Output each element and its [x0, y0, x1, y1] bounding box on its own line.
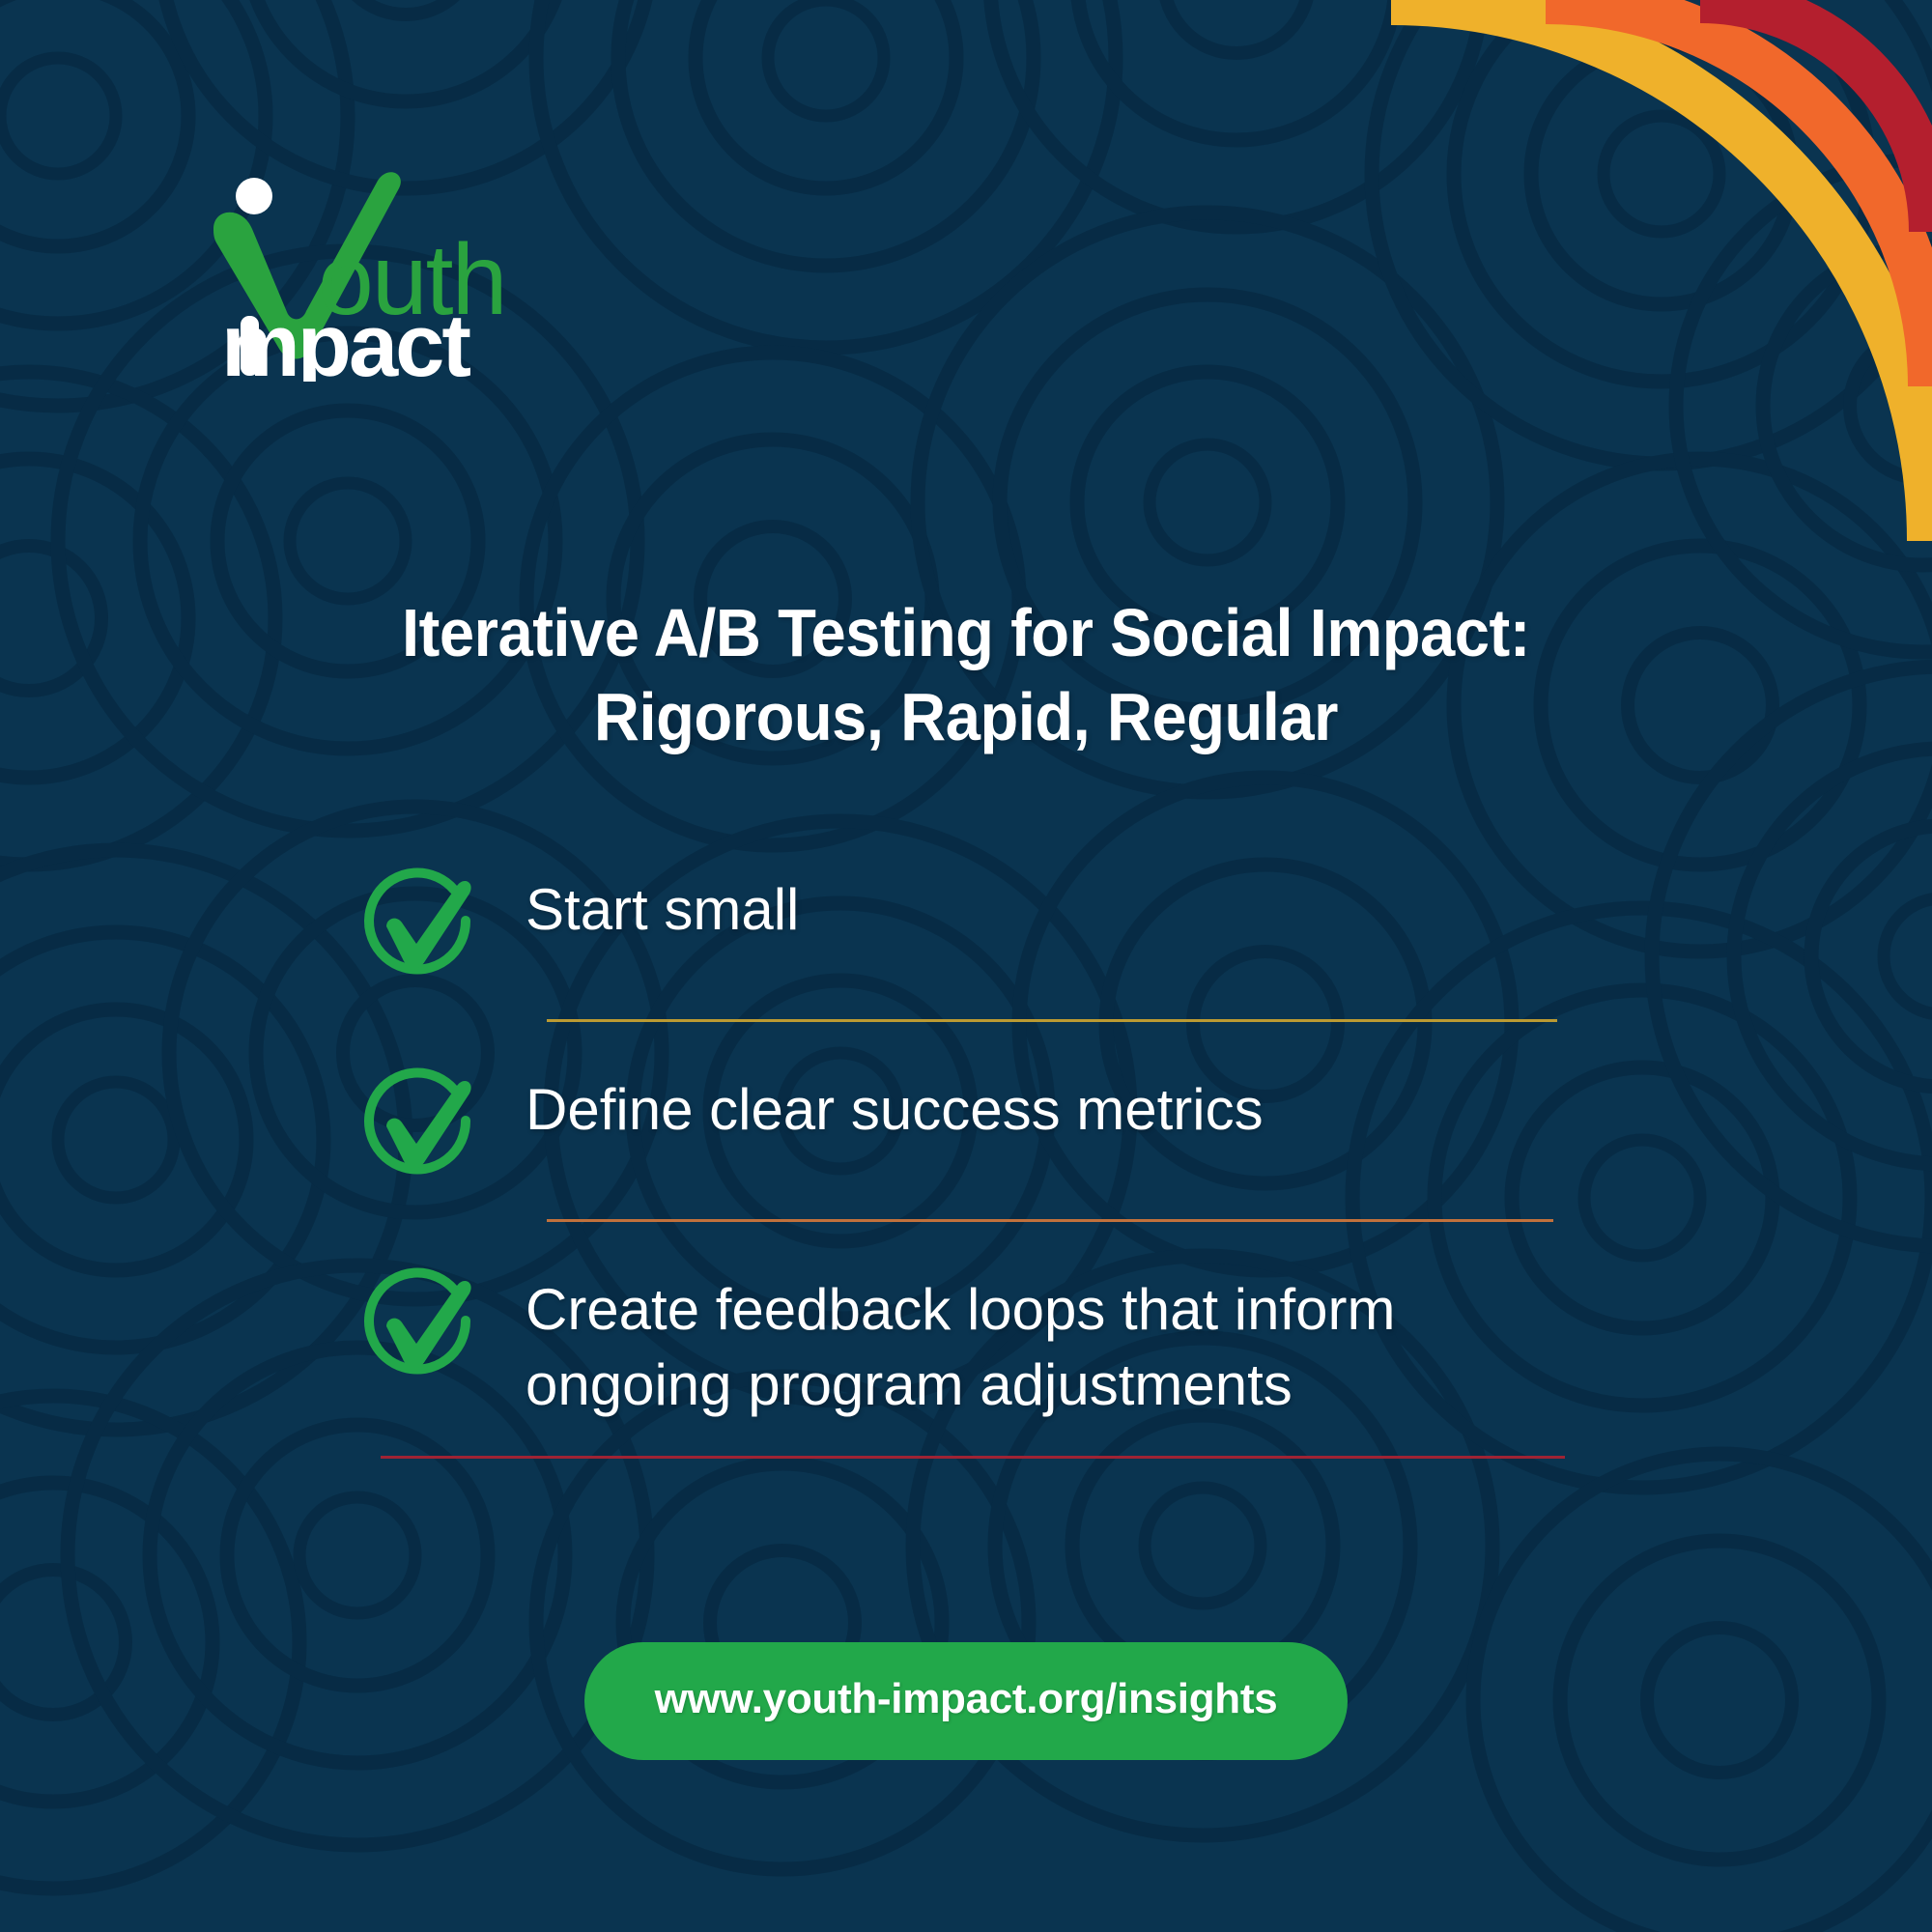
divider-copper [547, 1219, 1553, 1222]
circle-check-icon [357, 1264, 479, 1386]
youth-impact-logo: outh mpact [198, 169, 546, 382]
circle-check-icon [357, 1065, 479, 1186]
arc-red [1700, 0, 1932, 232]
headline-line-1: Iterative A/B Testing for Social Impact: [68, 591, 1864, 675]
headline-line-2: Rigorous, Rapid, Regular [68, 675, 1864, 759]
list-item: Start small [357, 855, 1613, 986]
list-item-label: Define clear success metrics [526, 1055, 1613, 1148]
logo-head-dot [236, 178, 272, 214]
logo-i-stem [241, 316, 259, 376]
cta-container: www.youth-impact.org/insights [0, 1642, 1932, 1760]
divider-gold [547, 1019, 1557, 1022]
social-post-card: outh mpact Iterative A/B Testing for Soc… [0, 0, 1932, 1932]
circle-check-icon [357, 865, 479, 986]
website-link-button[interactable]: www.youth-impact.org/insights [584, 1642, 1348, 1760]
page-title: Iterative A/B Testing for Social Impact:… [68, 591, 1864, 759]
arc-orange [1546, 0, 1932, 386]
list-item-label: Create feedback loops that inform ongoin… [526, 1255, 1613, 1423]
checklist: Start small Define clear success metrics… [357, 855, 1613, 1492]
list-item-label: Start small [526, 855, 1613, 948]
list-item: Define clear success metrics [357, 1055, 1613, 1186]
arc-yellow [1391, 0, 1932, 541]
divider-crimson [381, 1456, 1565, 1459]
list-item: Create feedback loops that inform ongoin… [357, 1255, 1613, 1423]
